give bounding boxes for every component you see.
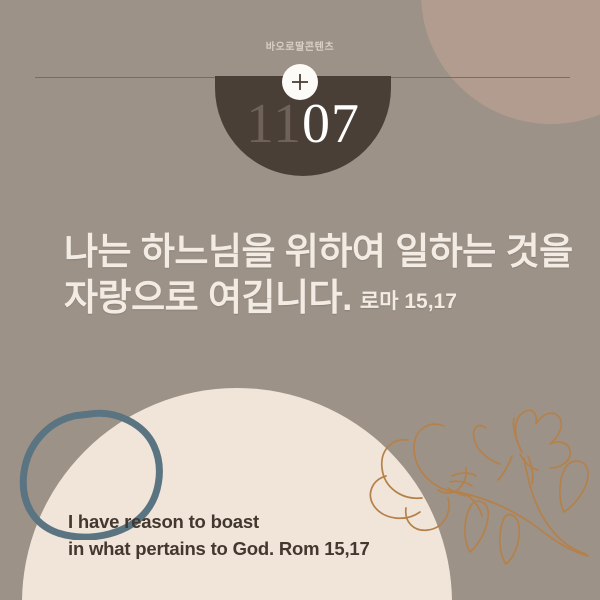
verse-korean-line-1: 나는 하느님을 위하여 일하는 것을	[64, 229, 584, 275]
verse-english-line-2: in what pertains to God. Rom 15,17	[68, 535, 488, 562]
verse-korean-line-2-text: 자랑으로 여깁니다.	[64, 277, 352, 318]
decorative-circle-top-right	[421, 0, 600, 124]
issue-number-prefix: 11	[246, 93, 302, 155]
brand-name: 바오로딸콘텐츠	[0, 38, 600, 53]
verse-card: 바오로딸콘텐츠 1107 나는 하느님을 위하여 일하는 것을 자랑으로 여깁니…	[0, 0, 600, 600]
verse-korean-line-2: 자랑으로 여깁니다.로마 15,17	[64, 275, 584, 325]
verse-korean: 나는 하느님을 위하여 일하는 것을 자랑으로 여깁니다.로마 15,17	[64, 229, 584, 325]
issue-number-suffix: 07	[302, 93, 360, 155]
issue-number: 1107	[215, 96, 391, 152]
floral-line-art	[362, 392, 600, 600]
verse-english-line-1: I have reason to boast	[68, 508, 488, 535]
verse-korean-reference: 로마 15,17	[360, 290, 457, 313]
cross-icon	[290, 72, 310, 92]
verse-english: I have reason to boast in what pertains …	[68, 508, 488, 562]
